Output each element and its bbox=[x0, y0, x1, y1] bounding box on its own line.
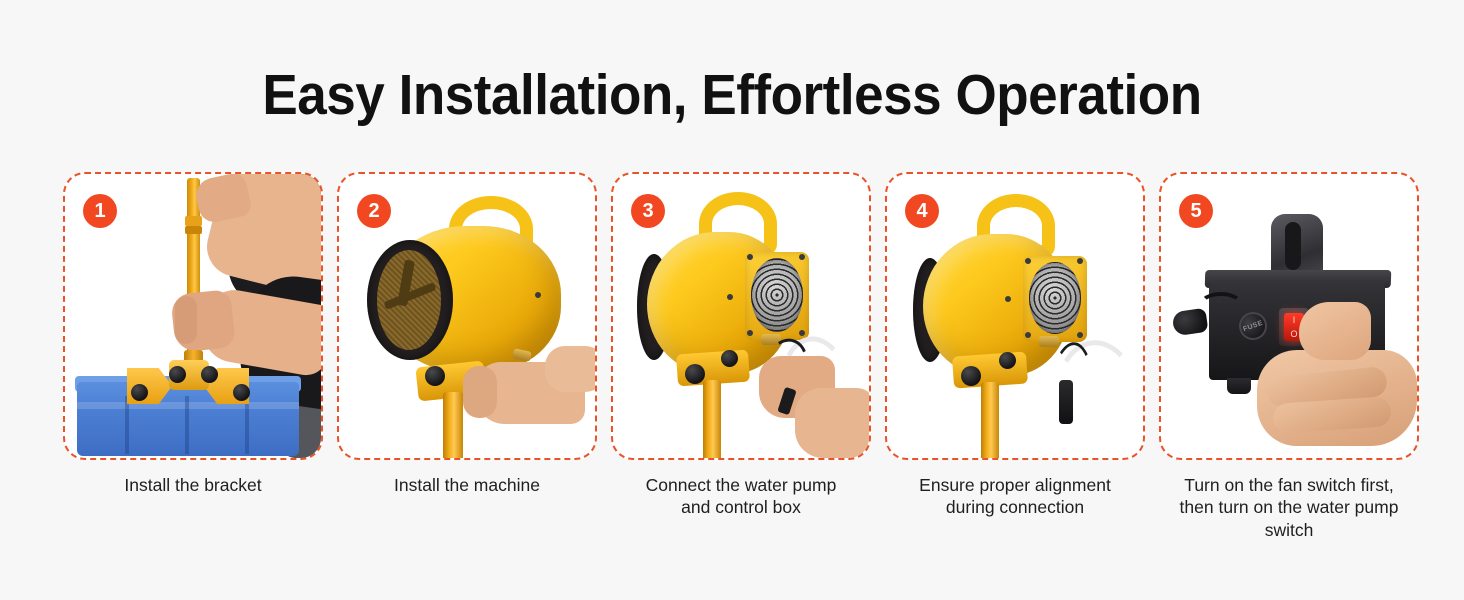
plate-screw bbox=[1025, 258, 1031, 264]
pole-joint-upper bbox=[185, 216, 202, 226]
plate-screw bbox=[1025, 332, 1031, 338]
switch-on-symbol: I bbox=[1293, 316, 1296, 325]
step-number-badge-1: 1 bbox=[83, 194, 117, 228]
step-card-1: 1 Install the bracket bbox=[63, 172, 323, 541]
body-screw bbox=[1005, 296, 1011, 302]
promo-infographic: Easy Installation, Effortless Operation bbox=[0, 0, 1464, 600]
step-card-4: 4 Ensure proper alignment during connect… bbox=[885, 172, 1145, 541]
step-card-3: 3 Connect the water pump and control box bbox=[611, 172, 871, 541]
step-number-badge-5: 5 bbox=[1179, 194, 1213, 228]
mast-pole bbox=[981, 382, 999, 460]
pole-collar bbox=[185, 226, 202, 234]
plate-screw bbox=[799, 330, 805, 336]
power-plug-connector bbox=[1171, 308, 1208, 336]
spout-slot bbox=[1285, 222, 1301, 270]
switch-off-symbol: O bbox=[1290, 330, 1297, 339]
mast-pole bbox=[443, 392, 463, 460]
step-caption-1: Install the bracket bbox=[59, 474, 327, 496]
step-caption-5-line2: then turn on the water pump bbox=[1155, 496, 1423, 518]
mount-knob bbox=[685, 364, 705, 384]
step-caption-5: Turn on the fan switch first, then turn … bbox=[1155, 474, 1423, 541]
plate-screw bbox=[747, 254, 753, 260]
wrist bbox=[545, 346, 597, 392]
mount-knob bbox=[425, 366, 445, 386]
steps-row: 1 Install the bracket bbox=[63, 172, 1403, 541]
clamp-knob bbox=[169, 366, 186, 383]
mount-knob bbox=[999, 352, 1016, 369]
mount-knob bbox=[961, 366, 981, 386]
mast-pole bbox=[703, 380, 721, 460]
crate-rib bbox=[245, 396, 249, 454]
plate-screw bbox=[747, 330, 753, 336]
step-1-image-frame: 1 bbox=[63, 172, 323, 460]
step-5-image-frame: FUSE I O 5 bbox=[1159, 172, 1419, 460]
plate-screw bbox=[799, 254, 805, 260]
clamp-knob bbox=[201, 366, 218, 383]
plate-screw bbox=[1077, 332, 1083, 338]
clamp-knob bbox=[131, 384, 148, 401]
step-number-badge-3: 3 bbox=[631, 194, 665, 228]
step-caption-5-line1: Turn on the fan switch first, bbox=[1155, 474, 1423, 496]
brass-hose-outlet bbox=[1039, 336, 1059, 347]
hand-holding-hose bbox=[795, 388, 871, 458]
step-caption-3: Connect the water pump and control box bbox=[607, 474, 875, 519]
body-screw bbox=[535, 292, 541, 298]
crate-rib bbox=[185, 396, 189, 454]
fingers bbox=[463, 366, 497, 418]
step-number-badge-4: 4 bbox=[905, 194, 939, 228]
step-caption-5-line3: switch bbox=[1155, 519, 1423, 541]
clamp-knob bbox=[233, 384, 250, 401]
hand-knuckles bbox=[175, 296, 197, 344]
plate-screw bbox=[1077, 258, 1083, 264]
step-card-5: FUSE I O 5 Turn on the fan switch firs bbox=[1159, 172, 1419, 541]
crate-rib bbox=[125, 396, 129, 454]
step-4-image-frame: 4 bbox=[885, 172, 1145, 460]
step-caption-2: Install the machine bbox=[333, 474, 601, 496]
step-2-image-frame: 2 bbox=[337, 172, 597, 460]
step-caption-4: Ensure proper alignment during connectio… bbox=[881, 474, 1149, 519]
step-3-image-frame: 3 bbox=[611, 172, 871, 460]
cable-connector-joint bbox=[1059, 380, 1073, 424]
rear-fan-grille bbox=[1029, 262, 1081, 334]
body-screw bbox=[727, 294, 733, 300]
finger-pressing-switch bbox=[1299, 302, 1371, 360]
step-caption-4-line2: during connection bbox=[881, 496, 1149, 518]
page-title: Easy Installation, Effortless Operation bbox=[51, 62, 1413, 128]
box-foot bbox=[1227, 378, 1251, 394]
rear-fan-grille bbox=[751, 258, 803, 332]
mount-knob bbox=[721, 350, 738, 367]
step-caption-3-line1: Connect the water pump bbox=[607, 474, 875, 496]
step-caption-4-line1: Ensure proper alignment bbox=[881, 474, 1149, 496]
step-number-badge-2: 2 bbox=[357, 194, 391, 228]
step-card-2: 2 Install the machine bbox=[337, 172, 597, 541]
step-caption-3-line2: and control box bbox=[607, 496, 875, 518]
